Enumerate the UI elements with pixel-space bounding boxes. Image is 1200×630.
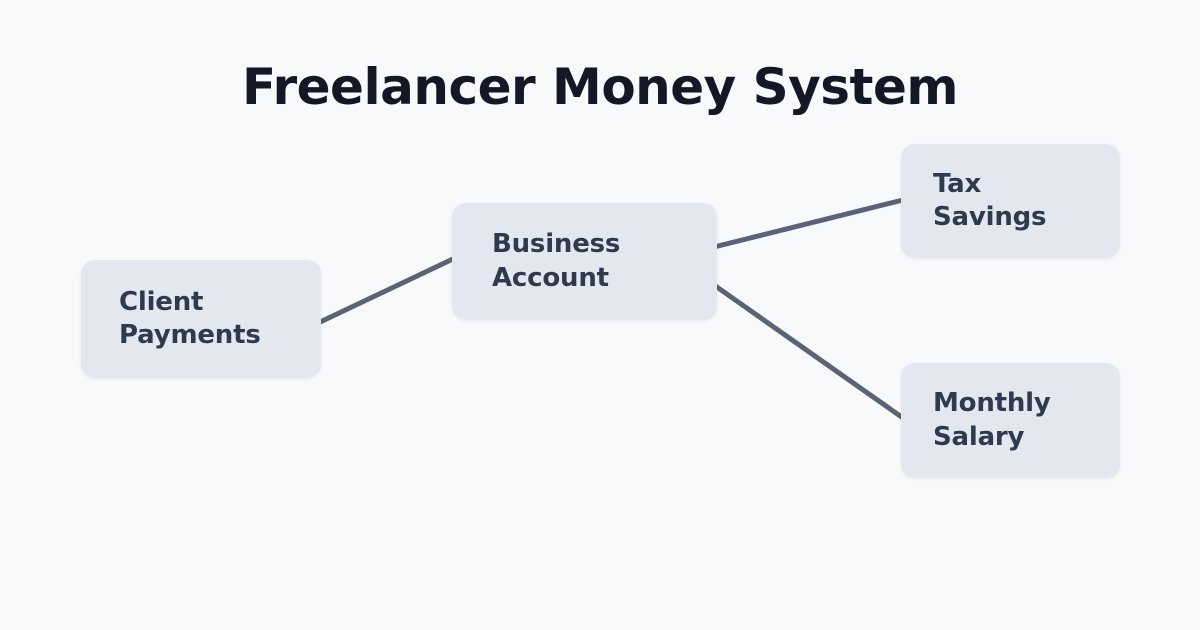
edge-business-account-to-monthly-salary	[714, 285, 903, 418]
node-tax-savings-label: Tax Savings	[933, 168, 1046, 235]
node-client-payments-label: Client Payments	[119, 286, 261, 353]
node-business-account-label: Business Account	[492, 228, 620, 295]
node-monthly-salary-label: Monthly Salary	[933, 387, 1051, 454]
node-business-account[interactable]: Business Account	[452, 203, 717, 320]
node-client-payments[interactable]: Client Payments	[81, 260, 321, 378]
edge-client-payments-to-business-account	[318, 258, 455, 323]
node-monthly-salary[interactable]: Monthly Salary	[901, 363, 1120, 478]
node-tax-savings[interactable]: Tax Savings	[901, 144, 1120, 258]
diagram-canvas: Freelancer Money System Client Payments …	[0, 0, 1200, 630]
edge-business-account-to-tax-savings	[714, 200, 903, 247]
